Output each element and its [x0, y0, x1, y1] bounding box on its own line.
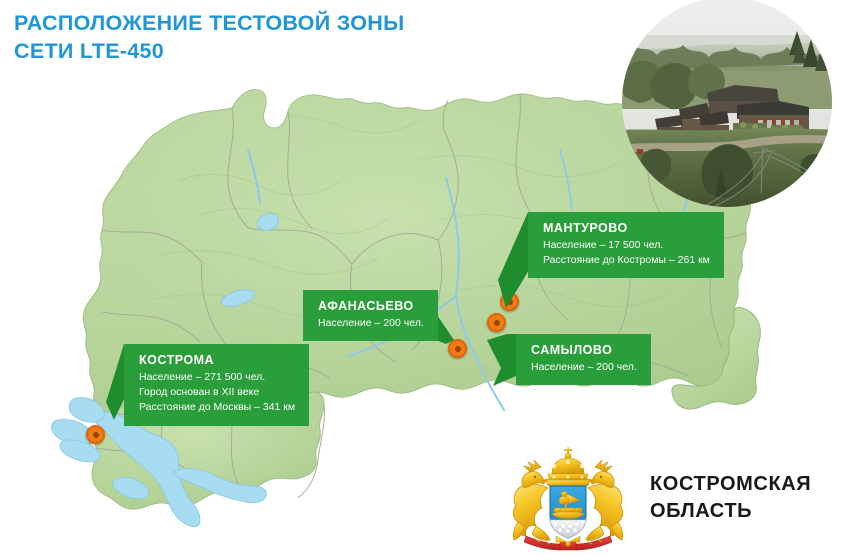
callout-title: МАНТУРОВО — [543, 221, 710, 235]
callout-line: Население – 200 чел. — [318, 316, 424, 331]
page-title: РАСПОЛОЖЕНИЕ ТЕСТОВОЙ ЗОНЫ СЕТИ LTE-450 — [14, 10, 404, 65]
callout-line: Расстояние до Москвы – 341 км — [139, 400, 295, 415]
crown-icon — [546, 447, 590, 486]
village-aerial-photo — [603, 0, 848, 207]
callout-line: Население – 200 чел. — [531, 360, 637, 375]
callout-title: КОСТРОМА — [139, 353, 295, 367]
kostroma-oblast-coat-of-arms — [508, 444, 628, 552]
callout-line: Население – 17 500 чел. — [543, 238, 710, 253]
callout-line: Город основан в XII веке — [139, 385, 295, 400]
region-logo-block: КОСТРОМСКАЯ ОБЛАСТЬ — [508, 442, 848, 554]
marker-kostroma[interactable] — [86, 425, 105, 444]
callout-manturovo[interactable]: МАНТУРОВО Население – 17 500 чел. Рассто… — [528, 212, 724, 278]
callout-line: Расстояние до Костромы – 261 км — [543, 253, 710, 268]
shield-icon — [550, 486, 586, 538]
griffin-left-icon — [513, 460, 550, 541]
region-name-label: КОСТРОМСКАЯ ОБЛАСТЬ — [650, 471, 811, 525]
callout-title: САМЫЛОВО — [531, 343, 637, 357]
callout-line: Население – 271 500 чел. — [139, 370, 295, 385]
callout-title: АФАНАСЬЕВО — [318, 299, 424, 313]
infographic-canvas: РАСПОЛОЖЕНИЕ ТЕСТОВОЙ ЗОНЫ СЕТИ LTE-450 — [0, 0, 848, 556]
griffin-right-icon — [586, 460, 623, 541]
callout-samylovo[interactable]: САМЫЛОВО Население – 200 чел. — [516, 334, 651, 385]
callout-kostroma[interactable]: КОСТРОМА Население – 271 500 чел. Город … — [124, 344, 309, 426]
callout-afanasyevo[interactable]: АФАНАСЬЕВО Население – 200 чел. — [303, 290, 438, 341]
